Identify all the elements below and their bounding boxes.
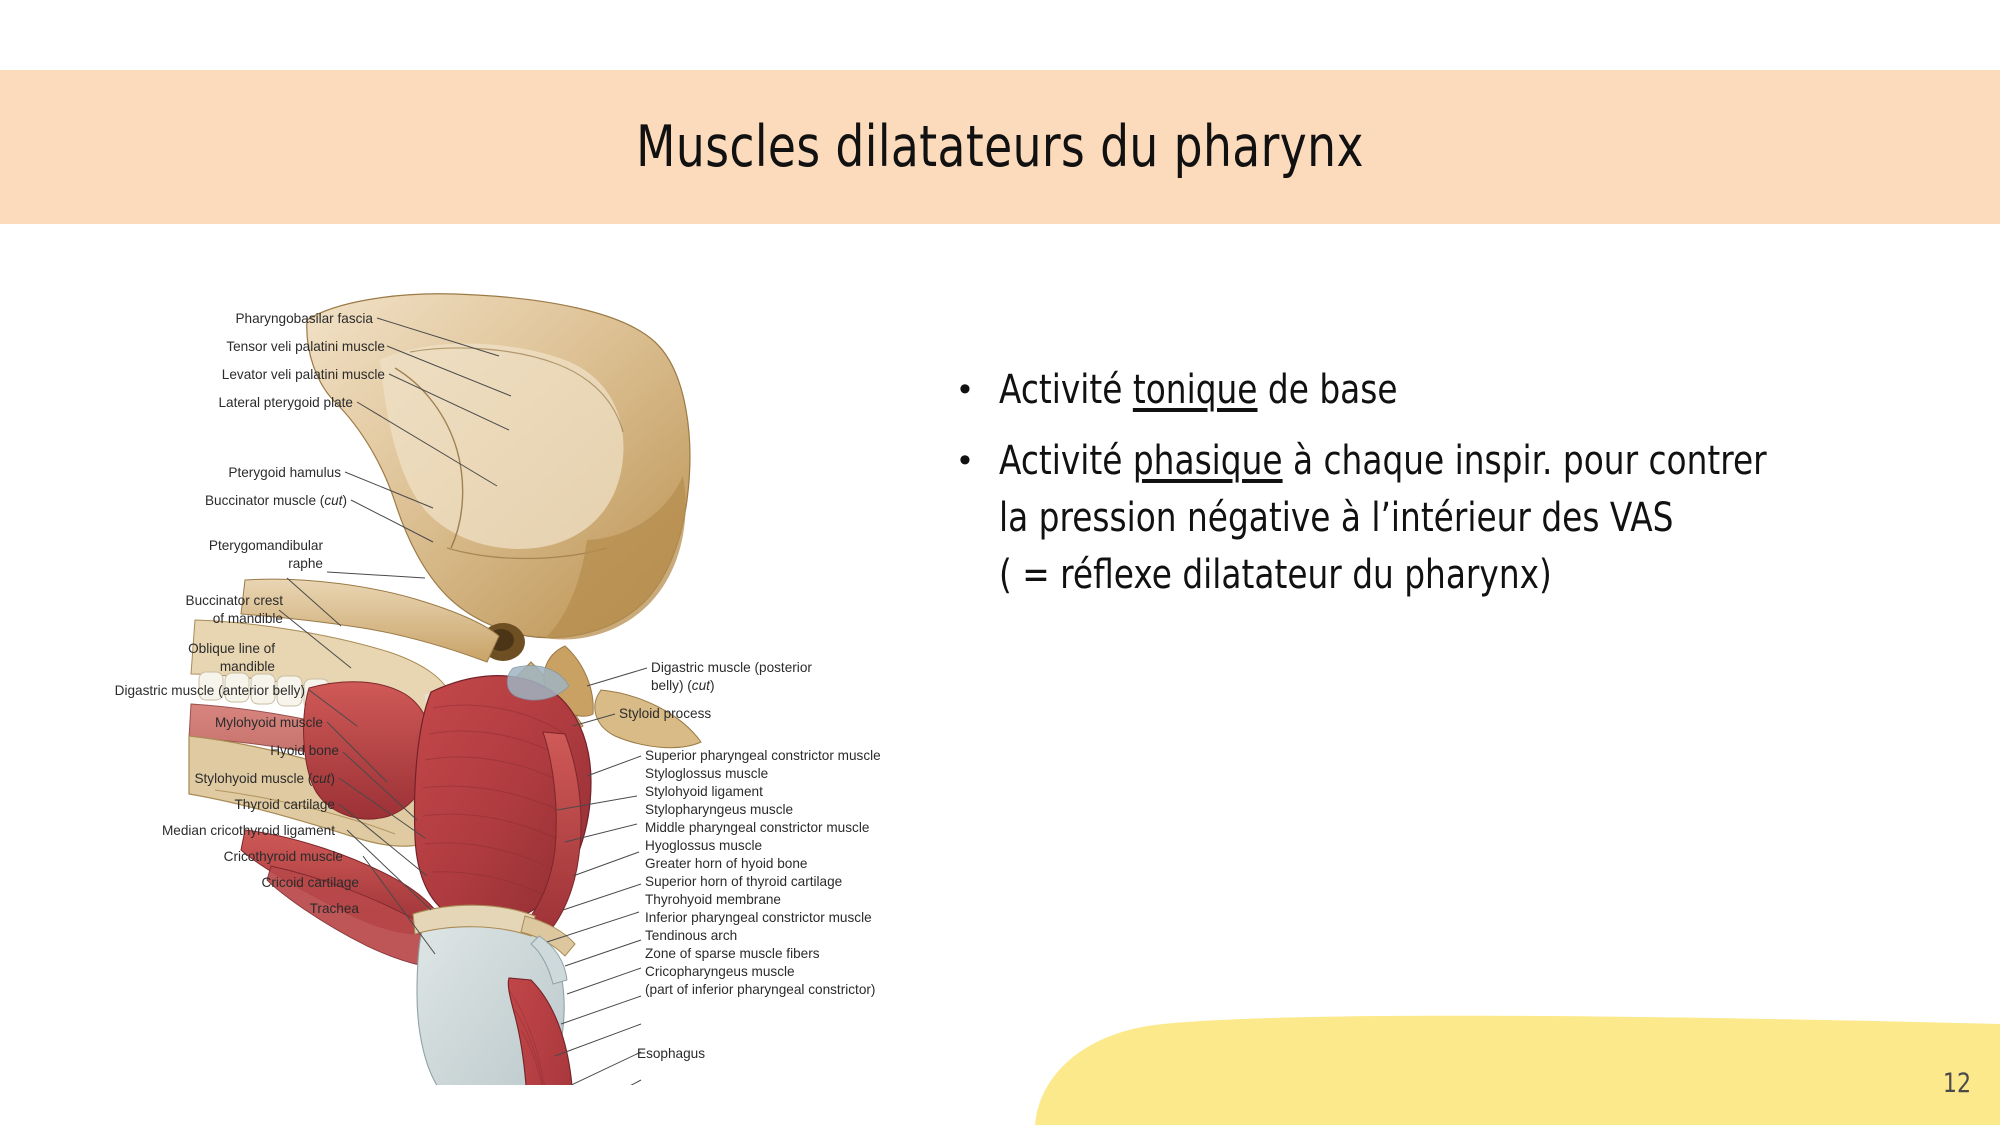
anatomy-figure: Pharyngobasilar fascia Tensor veli palat… bbox=[95, 290, 960, 1085]
svg-text:Inferior pharyngeal constricto: Inferior pharyngeal constrictor muscle bbox=[645, 910, 872, 925]
svg-text:Esophagus: Esophagus bbox=[637, 1046, 705, 1061]
svg-text:Styloglossus muscle: Styloglossus muscle bbox=[645, 766, 768, 781]
svg-text:Pterygomandibular: Pterygomandibular bbox=[209, 538, 324, 553]
larynx-group bbox=[413, 905, 575, 1085]
swoosh-shape bbox=[1035, 1016, 2000, 1125]
svg-text:Thyrohyoid membrane: Thyrohyoid membrane bbox=[645, 892, 781, 907]
svg-text:Digastric muscle (posterior: Digastric muscle (posterior bbox=[651, 660, 812, 675]
svg-text:Thyroid cartilage: Thyroid cartilage bbox=[235, 797, 336, 812]
bullet-item-2: • Activité phasique à chaque inspir. pou… bbox=[955, 433, 1965, 604]
svg-text:Cricothyroid muscle: Cricothyroid muscle bbox=[224, 849, 343, 864]
svg-text:Styloid process: Styloid process bbox=[619, 706, 711, 721]
content-text-block: • Activité tonique de base • Activité ph… bbox=[955, 362, 1965, 618]
bullet-seg-underlined: phasique bbox=[1133, 438, 1283, 484]
bullet-text-2: Activité phasique à chaque inspir. pour … bbox=[999, 433, 1965, 604]
svg-text:mandible: mandible bbox=[220, 659, 275, 674]
continuation-line-2: ( = réflexe dilatateur du pharynx) bbox=[999, 547, 1791, 604]
svg-text:Tensor veli palatini muscle: Tensor veli palatini muscle bbox=[226, 339, 385, 354]
svg-text:of mandible: of mandible bbox=[213, 611, 283, 626]
svg-text:Cricoid cartilage: Cricoid cartilage bbox=[262, 875, 359, 890]
bullet-item-1: • Activité tonique de base bbox=[955, 362, 1965, 419]
svg-text:raphe: raphe bbox=[288, 556, 323, 571]
bullet-line: Activité phasique à chaque inspir. pour … bbox=[999, 433, 1791, 490]
bullet-seg-plain-2: de base bbox=[1257, 367, 1397, 413]
bullet-line: Activité tonique de base bbox=[999, 362, 1791, 419]
svg-text:Pharyngobasilar fascia: Pharyngobasilar fascia bbox=[235, 311, 373, 326]
bullet-text-1: Activité tonique de base bbox=[999, 362, 1965, 419]
bullet-seg-plain: Activité bbox=[999, 438, 1133, 484]
svg-text:Mylohyoid muscle: Mylohyoid muscle bbox=[215, 715, 323, 730]
svg-text:Digastric muscle (anterior bel: Digastric muscle (anterior belly) bbox=[115, 683, 305, 698]
bullet-seg-underlined: tonique bbox=[1133, 367, 1258, 413]
svg-text:Median cricothyroid ligament: Median cricothyroid ligament bbox=[162, 823, 335, 838]
page-title: Muscles dilatateurs du pharynx bbox=[200, 70, 1800, 224]
svg-text:(part of inferior pharyngeal c: (part of inferior pharyngeal constrictor… bbox=[645, 982, 875, 997]
svg-text:Superior pharyngeal constricto: Superior pharyngeal constrictor muscle bbox=[645, 748, 881, 763]
svg-text:Levator veli palatini muscle: Levator veli palatini muscle bbox=[222, 367, 385, 382]
svg-text:Middle pharyngeal constrictor: Middle pharyngeal constrictor muscle bbox=[645, 820, 869, 835]
anatomy-illustration: Pharyngobasilar fascia Tensor veli palat… bbox=[95, 290, 960, 1085]
bullet-marker: • bbox=[955, 362, 999, 416]
bullet-marker: • bbox=[955, 433, 999, 487]
svg-text:Buccinator muscle (cut): Buccinator muscle (cut) bbox=[205, 493, 347, 508]
svg-text:Cricopharyngeus muscle: Cricopharyngeus muscle bbox=[645, 964, 795, 979]
svg-text:Stylopharyngeus muscle: Stylopharyngeus muscle bbox=[645, 802, 793, 817]
slide-canvas: Muscles dilatateurs du pharynx bbox=[0, 0, 2000, 1125]
page-number: 12 bbox=[1935, 1068, 1979, 1099]
svg-text:Pterygoid hamulus: Pterygoid hamulus bbox=[228, 465, 341, 480]
svg-text:Stylohyoid ligament: Stylohyoid ligament bbox=[645, 784, 763, 799]
svg-text:Trachea: Trachea bbox=[310, 901, 360, 916]
decorative-swoosh bbox=[1035, 1010, 2000, 1125]
continuation-line-1: la pression négative à l’intérieur des V… bbox=[999, 490, 1791, 547]
svg-text:belly) (cut): belly) (cut) bbox=[651, 678, 714, 693]
svg-text:Zone of sparse muscle fibers: Zone of sparse muscle fibers bbox=[645, 946, 820, 961]
svg-text:Greater horn of hyoid bone: Greater horn of hyoid bone bbox=[645, 856, 807, 871]
svg-text:Hyoglossus muscle: Hyoglossus muscle bbox=[645, 838, 762, 853]
svg-text:Oblique line of: Oblique line of bbox=[188, 641, 275, 656]
bullet-seg-plain: Activité bbox=[999, 367, 1133, 413]
bullet-seg-plain-2: à chaque inspir. pour contrer bbox=[1283, 438, 1767, 484]
svg-text:Lateral pterygoid plate: Lateral pterygoid plate bbox=[218, 395, 353, 410]
svg-text:Superior horn of thyroid carti: Superior horn of thyroid cartilage bbox=[645, 874, 842, 889]
svg-text:Tendinous arch: Tendinous arch bbox=[645, 928, 737, 943]
svg-text:Buccinator crest: Buccinator crest bbox=[186, 593, 284, 608]
figure-labels-right: Digastric muscle (posterior belly) (cut)… bbox=[619, 660, 881, 1061]
svg-text:Hyoid bone: Hyoid bone bbox=[270, 743, 339, 758]
svg-text:Stylohyoid muscle (cut): Stylohyoid muscle (cut) bbox=[194, 771, 335, 786]
